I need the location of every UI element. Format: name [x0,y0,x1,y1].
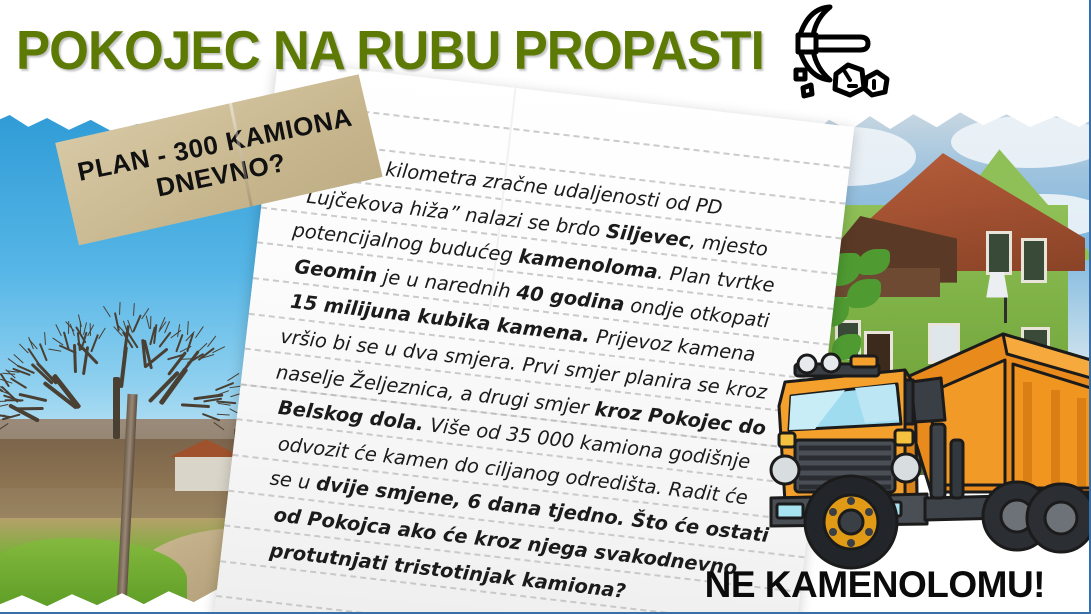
tree-branch [141,308,149,320]
tree-branch [70,323,75,336]
tree-branch [90,334,99,353]
article-text: se u [269,467,318,495]
pickaxe-with-rocks-icon [786,2,911,102]
tree-branch [207,336,216,348]
window [1021,238,1047,282]
article-text: , mjesto [689,229,769,261]
tree-branch [187,321,189,335]
tree-branch [181,403,210,408]
poster-slide: Tek 3 kilometra zračne udaljenosti od PD… [0,0,1091,614]
tree-branch [56,324,63,336]
tree-branch [44,332,46,345]
tree-branch [119,302,121,315]
tree-branch [213,422,224,431]
window [986,231,1012,275]
article-emphasis: Geomin [293,255,378,287]
page-title: POKOJEC NA RUBU PROPASTI [16,18,751,80]
orange-dump-truck-illustration [755,320,1091,582]
article-emphasis: Siljevec [605,219,691,252]
tree-branch [48,348,61,351]
tree-branch [195,326,204,338]
tree-branch [98,327,106,339]
tree-branch [73,344,77,373]
tree-branch [52,337,64,345]
tree-branch [103,306,111,318]
tree-branch [39,343,48,362]
tree-branch [10,377,28,389]
tree-branch [132,314,141,333]
tree-branch [87,325,94,337]
slogan-text: NE KAMENOLOMU! [705,564,1045,606]
tree-branch [216,414,229,416]
cloud [951,116,1091,168]
tree-branch [150,316,151,329]
tree-branch [158,332,171,349]
article-body-text: Tek 3 kilometra zračne udaljenosti od PD… [254,142,812,614]
tree-branch [89,323,91,336]
article-emphasis: 40 godina [515,280,625,315]
tree-branch [133,303,135,316]
bare-tree-canopy [10,221,235,439]
tree-branch [78,315,82,328]
